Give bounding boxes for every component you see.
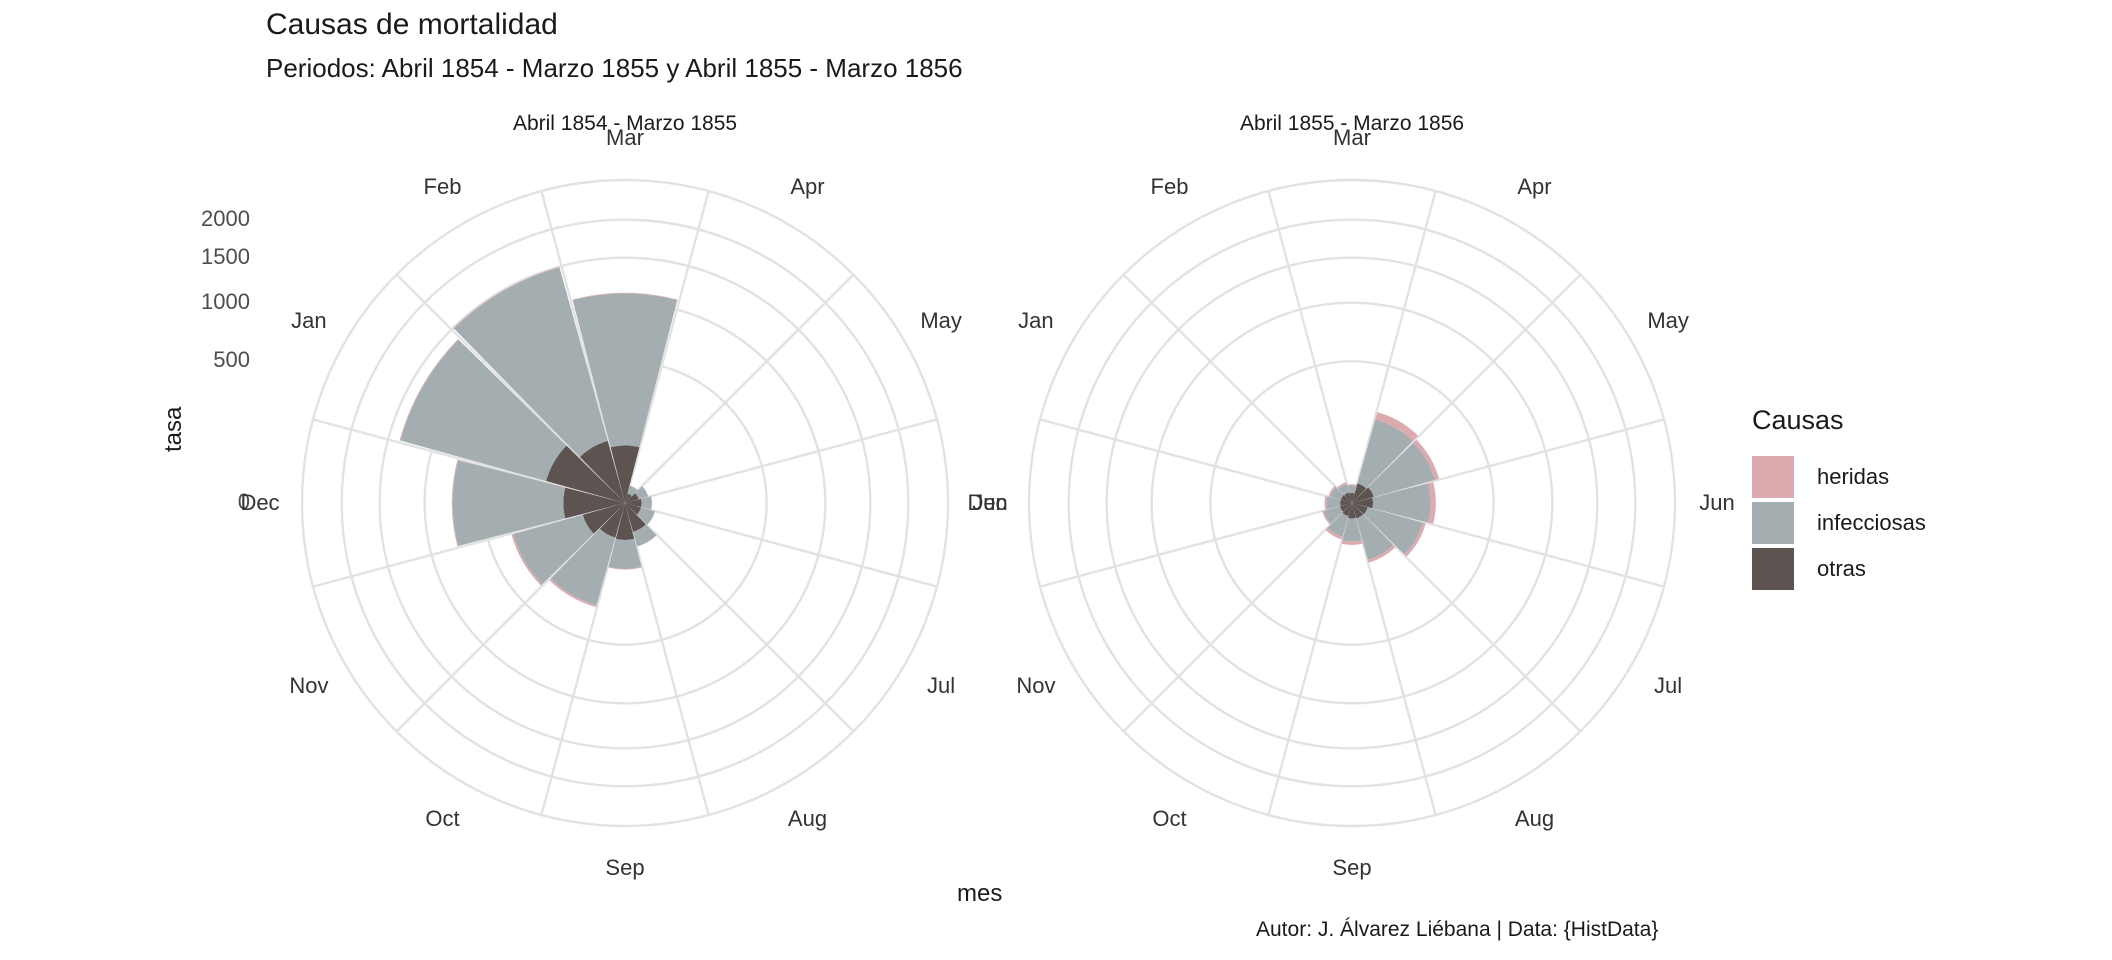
grid-spoke bbox=[1124, 275, 1352, 503]
grid-spoke bbox=[625, 419, 937, 503]
legend-item-otras[interactable]: otras bbox=[1752, 546, 1926, 592]
grid-spoke bbox=[1352, 503, 1580, 731]
grid-spoke bbox=[1268, 503, 1352, 815]
legend-swatch-heridas bbox=[1752, 456, 1794, 498]
grid-spoke bbox=[397, 503, 625, 731]
grid-spoke bbox=[625, 503, 937, 587]
legend-title: Causas bbox=[1752, 405, 1926, 436]
grid-spoke bbox=[1352, 503, 1436, 815]
grid-spoke bbox=[1040, 503, 1352, 587]
legend: Causas heridas infecciosas otras bbox=[1752, 405, 1926, 592]
grid-spoke bbox=[1040, 419, 1352, 503]
legend-item-infecciosas[interactable]: infecciosas bbox=[1752, 500, 1926, 546]
legend-swatch-otras bbox=[1752, 548, 1794, 590]
grid-spoke bbox=[625, 503, 853, 731]
legend-label-infecciosas: infecciosas bbox=[1817, 510, 1926, 536]
legend-item-heridas[interactable]: heridas bbox=[1752, 454, 1926, 500]
grid-spoke bbox=[1352, 275, 1580, 503]
legend-label-heridas: heridas bbox=[1817, 464, 1889, 490]
plot-canvas: Causas de mortalidad Periodos: Abril 185… bbox=[0, 0, 2112, 960]
grid-spoke bbox=[625, 503, 709, 815]
grid-spoke bbox=[1268, 191, 1352, 503]
grid-spoke bbox=[1124, 503, 1352, 731]
legend-label-otras: otras bbox=[1817, 556, 1866, 582]
caption: Autor: J. Álvarez Liébana | Data: {HistD… bbox=[1256, 918, 1658, 942]
legend-swatch-infecciosas bbox=[1752, 502, 1794, 544]
